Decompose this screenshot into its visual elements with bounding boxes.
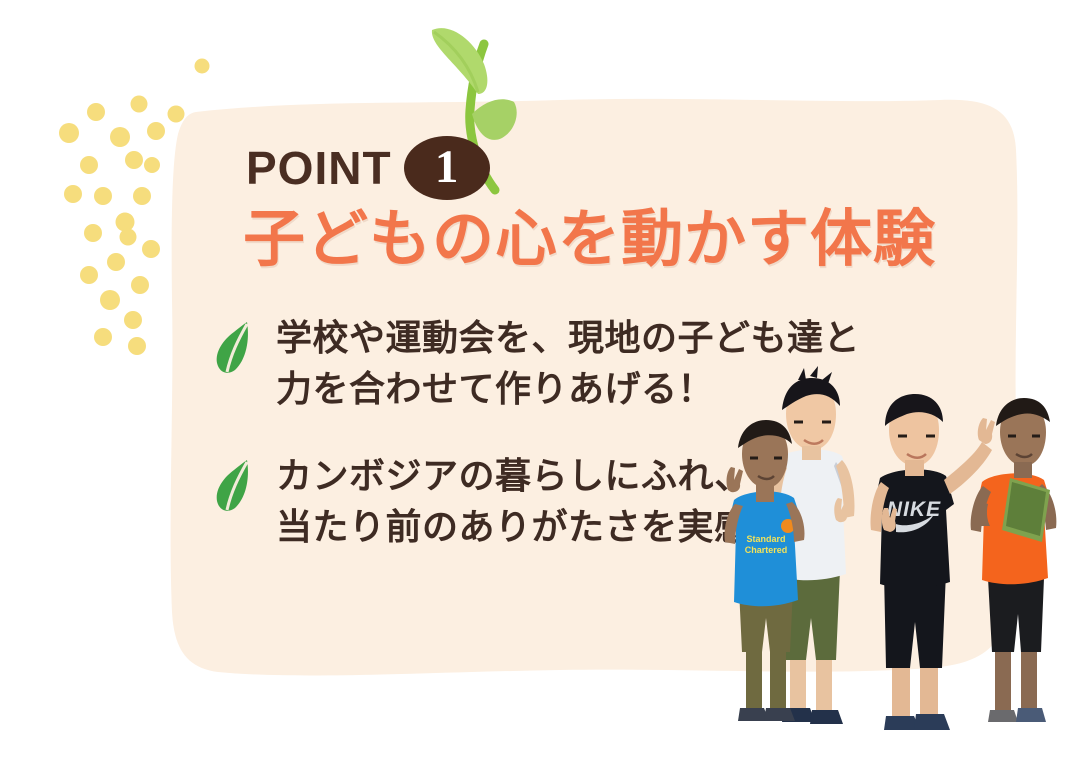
svg-text:Chartered: Chartered xyxy=(745,545,788,555)
point-card-graphic: POINT 1 子どもの心を動かす体験 学校や運動会を、現地の子ども達と 力を合… xyxy=(0,0,1080,762)
list-item-label: カンボジアの暮らしにふれ、 当たり前のありがたさを実感！ xyxy=(276,450,787,552)
leaf-icon xyxy=(214,318,254,376)
page-title: 子どもの心を動かす体験 xyxy=(243,206,936,274)
point-number: 1 xyxy=(435,144,459,191)
point-label: POINT xyxy=(246,145,392,191)
svg-text:Standard: Standard xyxy=(746,534,785,544)
point-heading-row: POINT 1 xyxy=(246,139,490,197)
point-number-badge: 1 xyxy=(404,136,490,200)
children-group-photo: NIKE xyxy=(724,330,1080,740)
leaf-icon xyxy=(214,456,254,514)
list-item: カンボジアの暮らしにふれ、 当たり前のありがたさを実感！ xyxy=(214,450,787,552)
boy-center-right: NIKE xyxy=(870,394,995,730)
